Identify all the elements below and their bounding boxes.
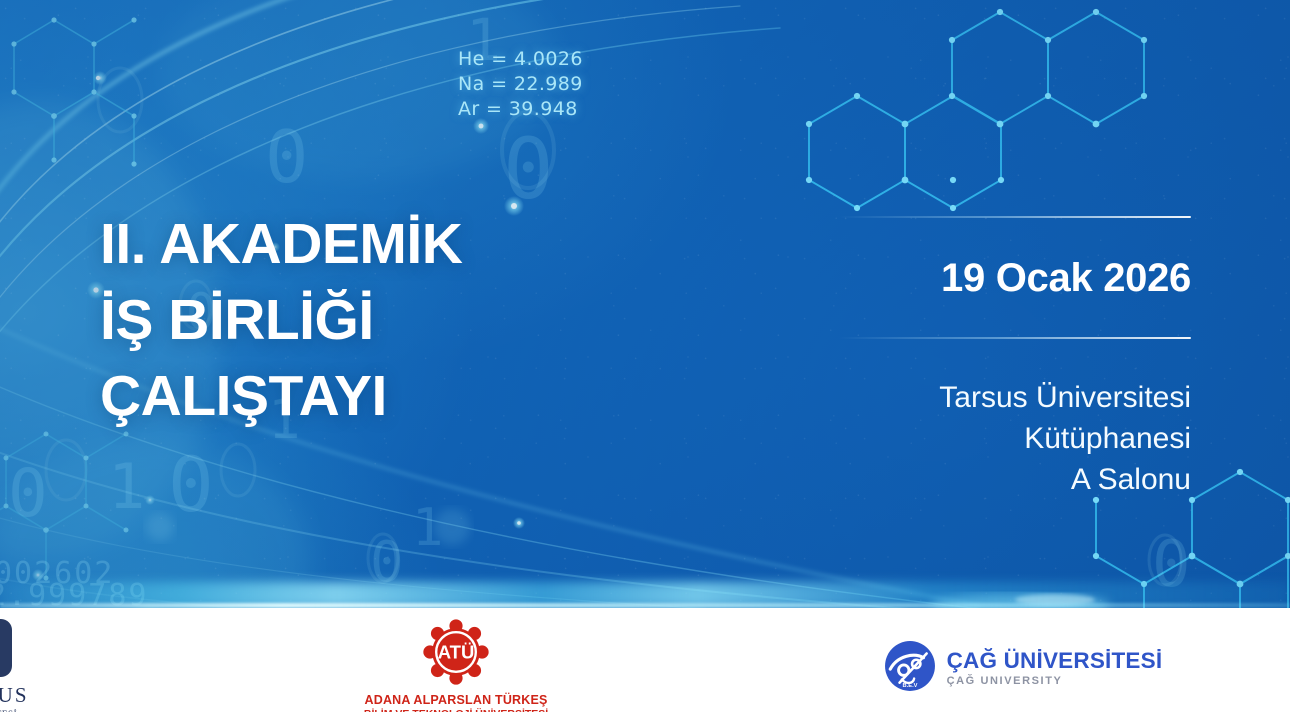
svg-text:B.E.V: B.E.V <box>902 683 917 689</box>
event-venue: Tarsus Üniversitesi Kütüphanesi A Salonu <box>839 339 1191 500</box>
event-poster: 0 1 0 1 0 0 1 0 002602 2.999789 0 1 0 He… <box>0 0 1290 712</box>
chemistry-formula-block: He = 4.0026 Na = 22.989 Ar = 39.948 <box>458 47 583 122</box>
page-title: II. AKADEMİK İŞ BİRLİĞİ ÇALIŞTAYI <box>100 206 462 434</box>
title-line-2: İŞ BİRLİĞİ <box>100 282 462 358</box>
logo-atu: ATÜ ADANA ALPARSLAN TÜRKEŞ BİLİM VE TEKN… <box>364 608 548 712</box>
venue-line-3: A Salonu <box>839 459 1191 500</box>
logo-cag: B.E.V ÇAĞ ÜNİVERSİTESİ ÇAĞ UNIVERSITY <box>884 608 1163 697</box>
atu-name: ADANA ALPARSLAN TÜRKEŞ <box>364 693 547 707</box>
event-details: 19 Ocak 2026 Tarsus Üniversitesi Kütüpha… <box>839 216 1191 500</box>
tarsus-name: TARSUS <box>0 683 29 708</box>
title-line-1: II. AKADEMİK <box>100 206 462 282</box>
event-date: 19 Ocak 2026 <box>839 218 1191 337</box>
formula-line-na: Na = 22.989 <box>458 73 583 95</box>
logo-tarsus: TARSUS ÜNİVERSİTESİ <box>0 608 29 712</box>
venue-line-1: Tarsus Üniversitesi <box>839 377 1191 418</box>
atu-monogram: ATÜ <box>438 642 475 663</box>
tarsus-emblem-icon <box>0 619 12 677</box>
sponsor-logo-bar: TARSUS ÜNİVERSİTESİ ATÜ ADANA AL <box>0 608 1290 712</box>
cag-name: ÇAĞ ÜNİVERSİTESİ <box>947 650 1163 673</box>
formula-line-ar: Ar = 39.948 <box>458 98 578 120</box>
formula-line-he: He = 4.0026 <box>458 48 583 70</box>
title-line-3: ÇALIŞTAYI <box>100 358 462 434</box>
atu-subtitle: BİLİM VE TEKNOLOJİ ÜNİVERSİTESİ <box>364 708 548 712</box>
cag-emblem-icon: B.E.V <box>884 640 936 697</box>
venue-line-2: Kütüphanesi <box>839 418 1191 459</box>
atu-emblem-icon: ATÜ <box>423 619 489 690</box>
cag-subtitle: ÇAĞ UNIVERSITY <box>947 676 1163 687</box>
